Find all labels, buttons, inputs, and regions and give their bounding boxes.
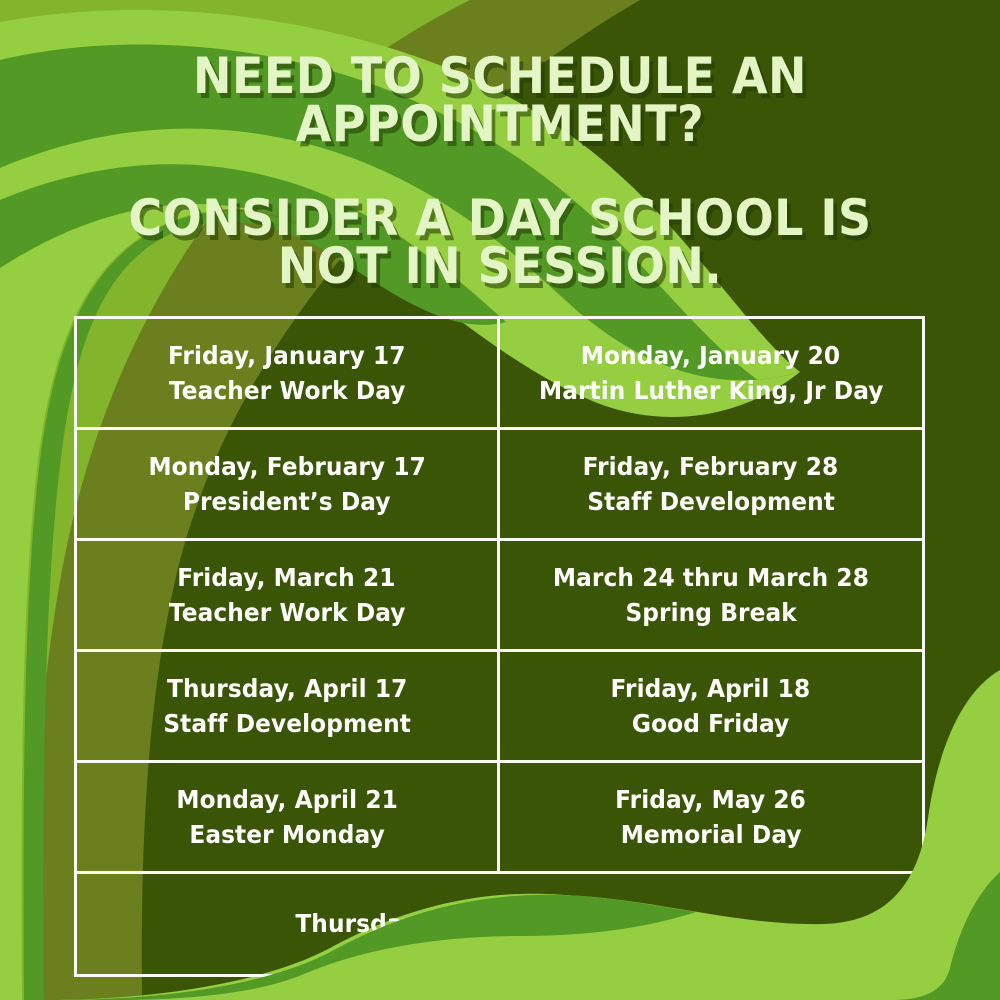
- schedule-event: Easter Monday: [189, 817, 385, 853]
- schedule-event: Memorial Day: [620, 817, 801, 853]
- schedule-date: Friday, January 17: [168, 338, 406, 374]
- schedule-event: Martin Luther King, Jr Day: [538, 373, 883, 409]
- schedule-cell: Monday, February 17 President’s Day: [77, 430, 500, 538]
- schedule-date: Friday, March 21: [178, 560, 396, 596]
- schedule-date: Friday, February 28: [583, 449, 839, 485]
- schedule-date: Monday, February 17: [148, 449, 425, 485]
- poster-canvas: NEED TO SCHEDULE AN APPOINTMENT? CONSIDE…: [0, 0, 1000, 1000]
- schedule-event: Teacher Work Day: [168, 595, 405, 631]
- table-row: Monday, April 21 Easter Monday Friday, M…: [77, 763, 922, 874]
- schedule-event: Staff Development: [587, 484, 835, 520]
- schedule-date: Thursday, April 17: [167, 671, 407, 707]
- schedule-cell: Friday, March 21 Teacher Work Day: [77, 541, 500, 649]
- schedule-date: Friday, May 26: [615, 782, 806, 818]
- schedule-cell: Friday, January 17 Teacher Work Day: [77, 319, 500, 427]
- table-row-footer: Thursday, 6/5 Last student day: [77, 874, 922, 974]
- schedule-event: Teacher Work Day: [168, 373, 405, 409]
- schedule-cell: Thursday, April 17 Staff Development: [77, 652, 500, 760]
- headline-secondary: CONSIDER A DAY SCHOOL IS NOT IN SESSION.: [95, 194, 905, 290]
- headings-block: NEED TO SCHEDULE AN APPOINTMENT? CONSIDE…: [0, 0, 1000, 290]
- headline-primary: NEED TO SCHEDULE AN APPOINTMENT?: [178, 52, 822, 148]
- schedule-table: Friday, January 17 Teacher Work Day Mond…: [74, 316, 925, 977]
- schedule-cell: Friday, April 18 Good Friday: [500, 652, 923, 760]
- table-row: Monday, February 17 President’s Day Frid…: [77, 430, 922, 541]
- schedule-cell: Friday, February 28 Staff Development: [500, 430, 923, 538]
- schedule-date: Friday, April 18: [611, 671, 811, 707]
- table-row: Friday, January 17 Teacher Work Day Mond…: [77, 319, 922, 430]
- schedule-date: Monday, April 21: [176, 782, 398, 818]
- schedule-event: Spring Break: [625, 595, 796, 631]
- schedule-event: Good Friday: [632, 706, 789, 742]
- schedule-cell: Monday, January 20 Martin Luther King, J…: [500, 319, 923, 427]
- schedule-cell: Friday, May 26 Memorial Day: [500, 763, 923, 871]
- table-row: Thursday, April 17 Staff Development Fri…: [77, 652, 922, 763]
- schedule-event: President’s Day: [183, 484, 391, 520]
- schedule-date: March 24 thru March 28: [553, 560, 869, 596]
- schedule-cell-footer: Thursday, 6/5 Last student day: [77, 902, 922, 946]
- schedule-footer-text: Thursday, 6/5 Last student day: [296, 906, 704, 942]
- table-row: Friday, March 21 Teacher Work Day March …: [77, 541, 922, 652]
- schedule-cell: March 24 thru March 28 Spring Break: [500, 541, 923, 649]
- schedule-event: Staff Development: [163, 706, 411, 742]
- schedule-cell: Monday, April 21 Easter Monday: [77, 763, 500, 871]
- schedule-date: Monday, January 20: [581, 338, 840, 374]
